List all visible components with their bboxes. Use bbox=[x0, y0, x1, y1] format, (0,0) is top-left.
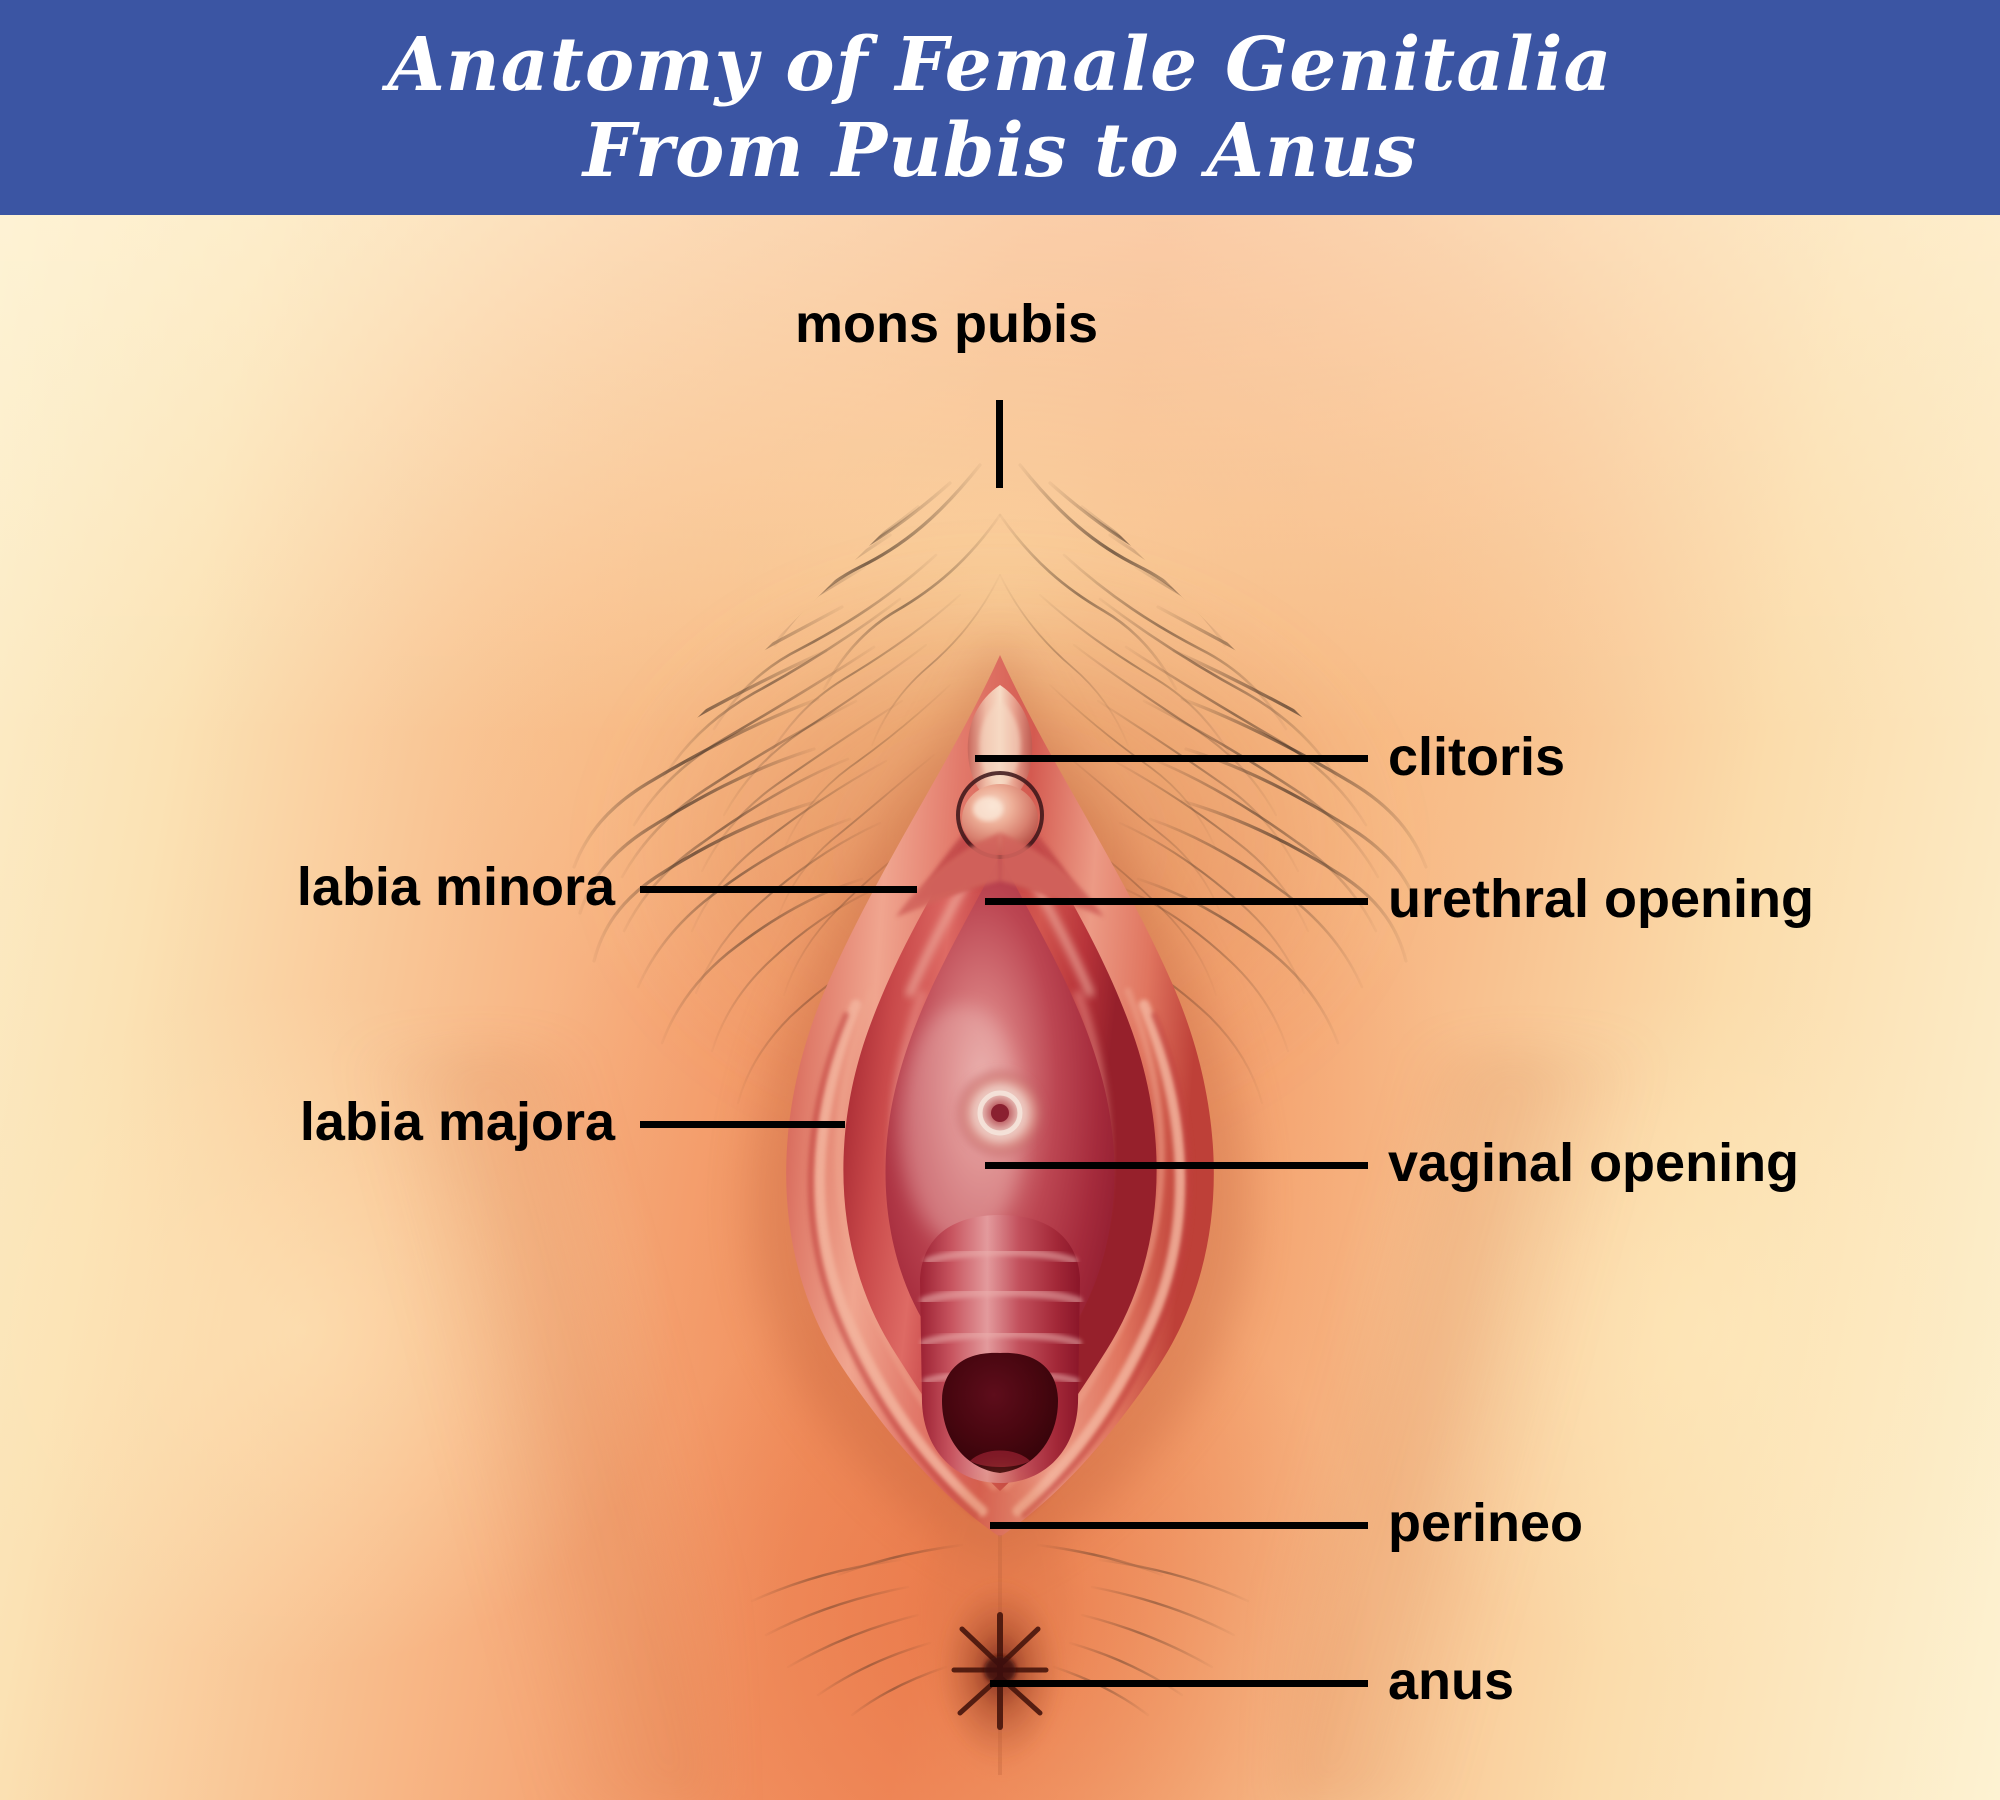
leader-line-labia-minora bbox=[640, 886, 917, 893]
leader-line-perineo bbox=[990, 1522, 1368, 1529]
leader-line-urethral-opening bbox=[985, 898, 1368, 905]
label-anus: anus bbox=[1388, 1652, 1514, 1710]
anus bbox=[938, 1578, 1062, 1762]
label-perineo: perineo bbox=[1388, 1494, 1583, 1552]
title-banner: Anatomy of Female Genitalia From Pubis t… bbox=[0, 0, 2000, 215]
label-clitoris: clitoris bbox=[1388, 728, 1565, 786]
label-vaginal-opening: vaginal opening bbox=[1388, 1134, 1799, 1192]
label-labia-minora: labia minora bbox=[215, 858, 615, 916]
leader-line-anus bbox=[990, 1680, 1368, 1687]
leader-line-clitoris bbox=[975, 755, 1368, 762]
title-line-1: Anatomy of Female Genitalia bbox=[388, 22, 1613, 108]
leader-line-mons-pubis bbox=[996, 400, 1003, 488]
label-labia-majora: labia majora bbox=[215, 1093, 615, 1151]
anatomy-diagram-page: Anatomy of Female Genitalia From Pubis t… bbox=[0, 0, 2000, 1800]
label-mons-pubis: mons pubis bbox=[795, 295, 1098, 353]
title-line-2: From Pubis to Anus bbox=[583, 108, 1417, 194]
urethral-opening bbox=[954, 1067, 1046, 1159]
leader-line-labia-majora bbox=[640, 1121, 845, 1128]
leader-line-vaginal-opening bbox=[985, 1162, 1368, 1169]
label-urethral-opening: urethral opening bbox=[1388, 870, 1814, 928]
